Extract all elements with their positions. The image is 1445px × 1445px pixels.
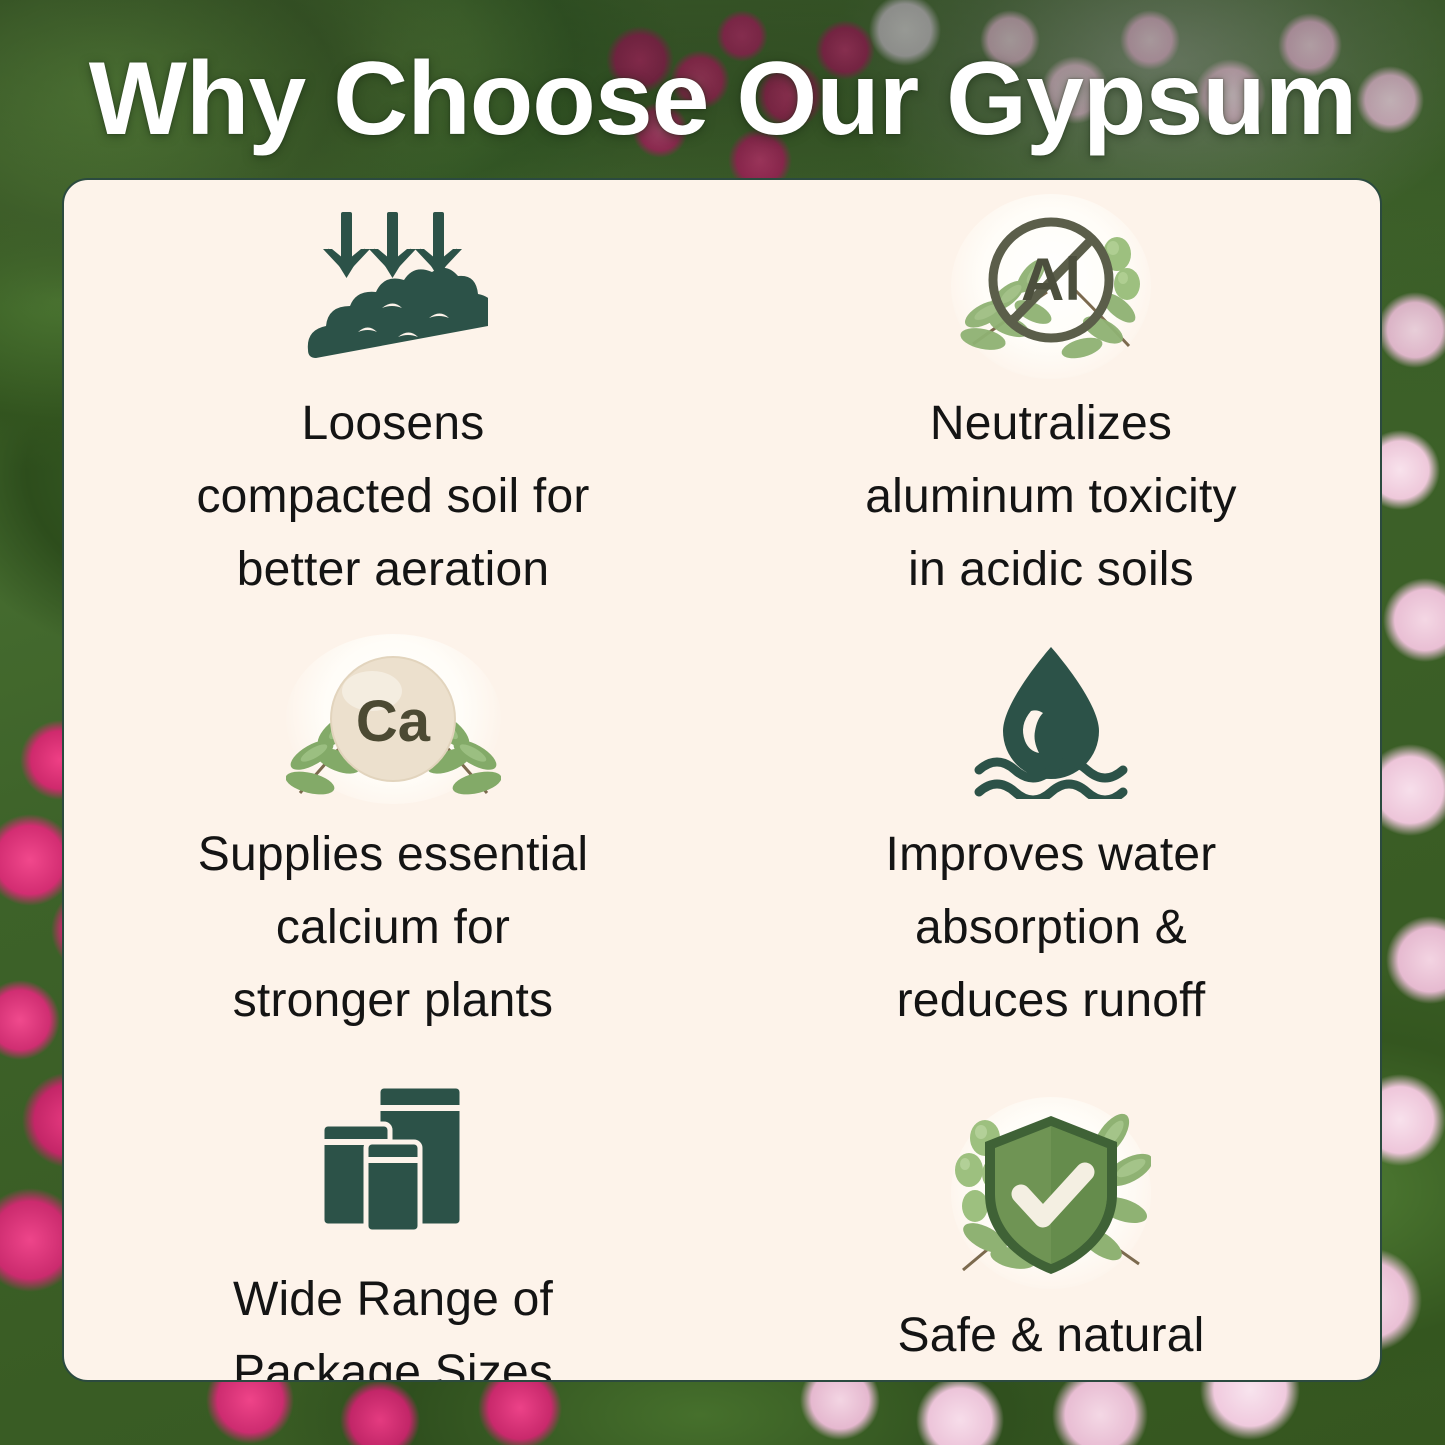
benefit-label-packages: Wide Range of Package Sizes [233,1264,553,1382]
benefit-line: compacted soil for [196,461,589,534]
page-title: Why Choose Our Gypsum [0,42,1445,156]
benefit-line: aluminum toxicity [865,461,1237,534]
benefit-label-aluminum: Neutralizes aluminum toxicity in acidic … [865,388,1237,607]
benefit-line: Wide Range of [233,1264,553,1337]
benefit-line: Supplies essential [198,819,589,892]
benefits-grid: Loosens compacted soil for better aerati… [64,180,1380,1380]
no-aluminum-icon-label: Al [1021,246,1081,313]
benefit-label-aeration: Loosens compacted soil for better aerati… [196,388,589,607]
benefit-line: better aeration [196,534,589,607]
benefit-line: Loosens [196,388,589,461]
benefit-line: absorption & [886,892,1217,965]
water-droplet-waves-icon [971,631,1131,807]
benefit-line: Safe & natural [898,1300,1205,1373]
benefit-label-calcium: Supplies essential calcium for stronger … [198,819,589,1038]
benefit-line: Package Sizes [233,1337,553,1382]
calcium-icon-label: Ca [355,689,430,754]
benefit-line: Improves water [886,819,1217,892]
package-bags-icon [306,1062,481,1252]
benefit-item-packages: Wide Range of Package Sizes [64,1044,722,1382]
calcium-sphere-icon: Ca [286,631,501,807]
benefit-line: calcium for [198,892,589,965]
benefit-item-safe: Safe & natural [722,1044,1380,1382]
benefit-item-aluminum: Al Neutralizes aluminum toxicity in acid… [722,180,1380,613]
shield-check-leaves-icon [951,1098,1151,1288]
benefit-item-aeration: Loosens compacted soil for better aerati… [64,180,722,613]
benefit-line: reduces runoff [886,965,1217,1038]
benefit-label-safe: Safe & natural [898,1300,1205,1373]
benefit-line: Neutralizes [865,388,1237,461]
benefits-card: Loosens compacted soil for better aerati… [62,178,1382,1382]
benefit-line: in acidic soils [865,534,1237,607]
soil-aeration-icon [298,198,488,374]
benefit-line: stronger plants [198,965,589,1038]
no-aluminum-icon: Al [951,198,1151,374]
benefit-item-calcium: Ca Supplies essential calcium for strong… [64,613,722,1044]
benefit-item-water: Improves water absorption & reduces runo… [722,613,1380,1044]
benefit-label-water: Improves water absorption & reduces runo… [886,819,1217,1038]
